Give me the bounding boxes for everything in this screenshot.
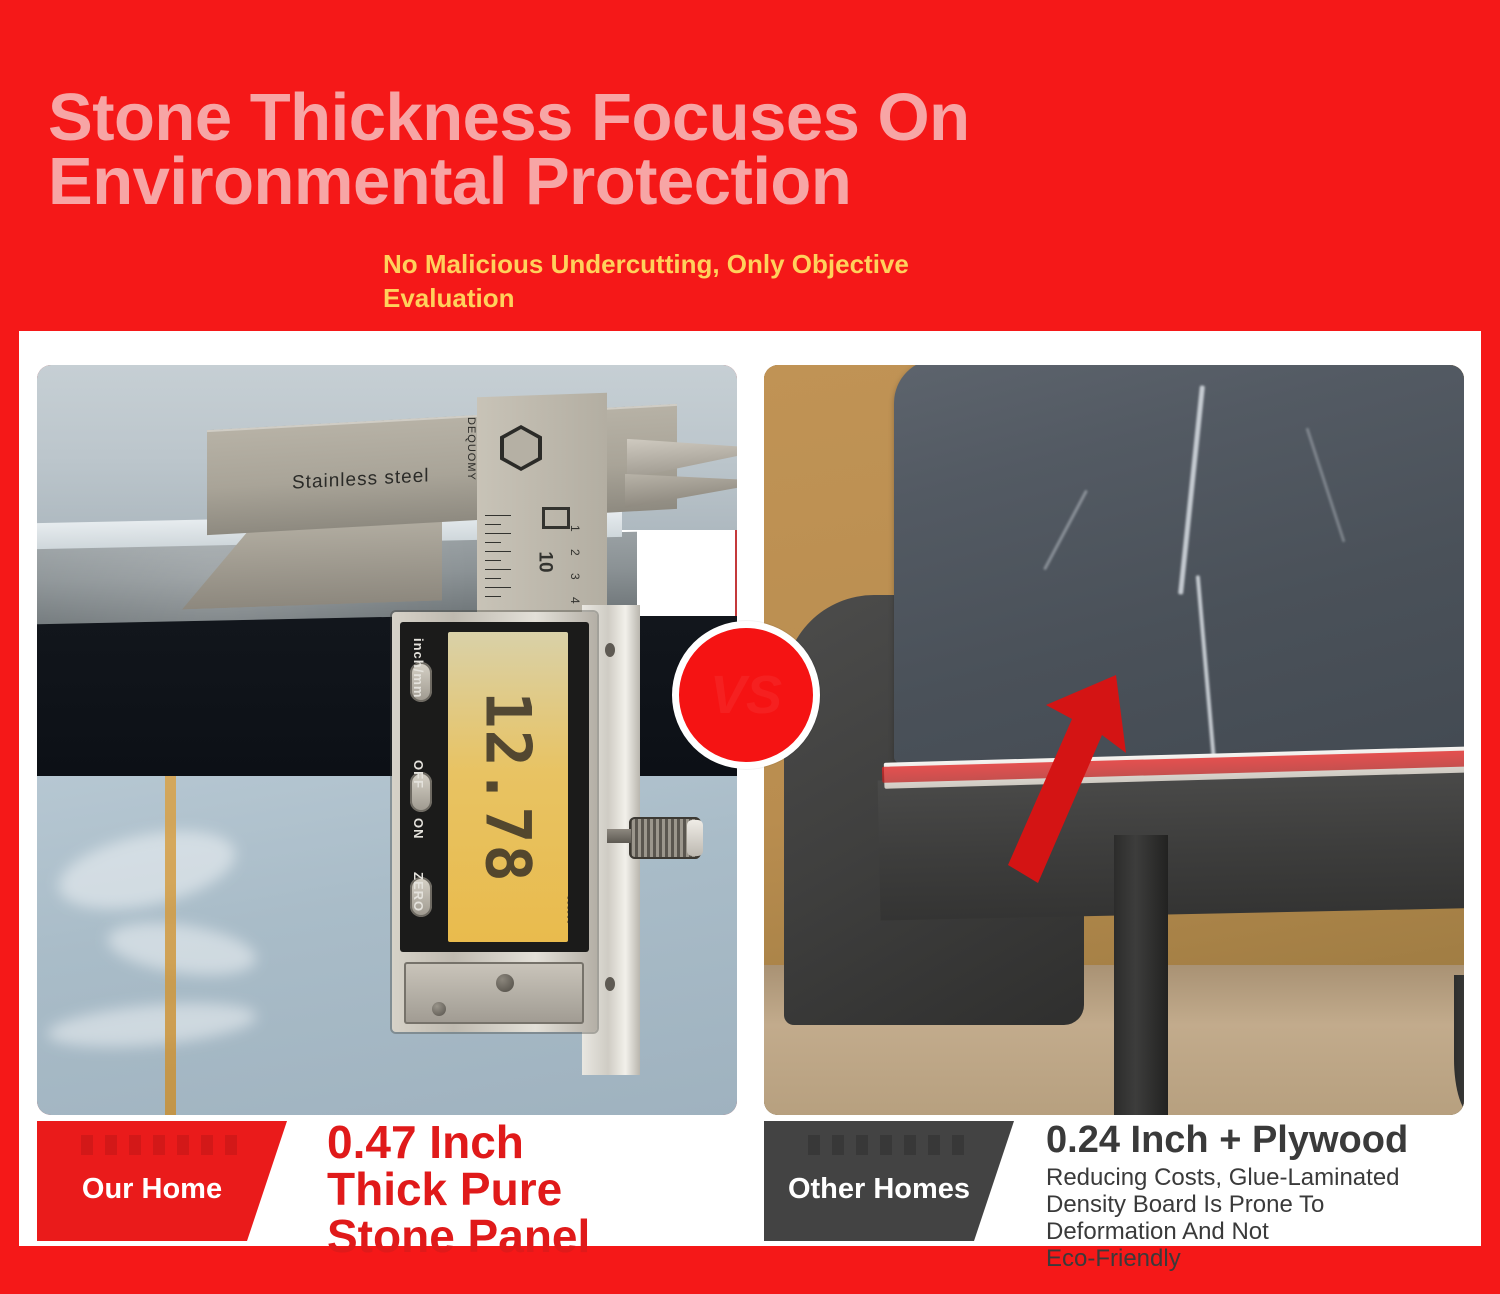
caliper-brand-hexagon-icon bbox=[500, 425, 546, 477]
photo-other-homes-table bbox=[764, 365, 1464, 1115]
caliper-beam-hole-2 bbox=[605, 977, 615, 991]
vs-badge-label: VS bbox=[710, 664, 782, 726]
page-title: Stone Thickness Focuses On Environmental… bbox=[48, 86, 1228, 213]
comparison-card-right bbox=[764, 365, 1464, 1115]
caliper-screw-1 bbox=[496, 974, 514, 992]
content-panel: 10 1 2 3 4 Stainless steel DEQUOMY inch/… bbox=[19, 331, 1481, 1246]
photo-our-home-caliper: 10 1 2 3 4 Stainless steel DEQUOMY inch/… bbox=[37, 365, 737, 1115]
badge-our-home: Our Home bbox=[37, 1121, 287, 1241]
thumb-wheel-cap bbox=[687, 820, 703, 856]
caliper-scale-minor-labels: 1 2 3 4 bbox=[568, 525, 582, 611]
caliper-measurement-unit: mm bbox=[562, 896, 568, 924]
caliper-label-inch-mm: inch/mm bbox=[411, 638, 426, 698]
caliper-measurement-value: 12.78 bbox=[472, 691, 545, 883]
caption-right-title: 0.24 Inch + Plywood bbox=[1046, 1121, 1466, 1159]
caption-left-title: 0.47 Inch Thick Pure Stone Panel bbox=[327, 1119, 747, 1260]
badge-other-homes: Other Homes bbox=[764, 1121, 1014, 1241]
comparison-card-left: 10 1 2 3 4 Stainless steel DEQUOMY inch/… bbox=[37, 365, 737, 1115]
caliper-beam-hole-1 bbox=[605, 643, 615, 657]
vs-badge: VS bbox=[672, 621, 820, 769]
caliper-bottom-plate bbox=[404, 962, 584, 1024]
caliper-scale-ten-label: 10 bbox=[534, 551, 556, 572]
stone-table-top bbox=[894, 365, 1464, 763]
caliper-lcd-screen: 12.78 mm bbox=[448, 632, 568, 942]
caliper-display-housing: inch/mm OFF ON ZERO 12.78 mm bbox=[392, 612, 597, 1032]
badge-ghost-artifact bbox=[796, 1135, 966, 1155]
caliper-label-on: ON bbox=[411, 818, 426, 840]
floor-seam-stripe bbox=[165, 776, 176, 1115]
caliper-label-off: OFF bbox=[411, 760, 426, 789]
caption-left: Our Home 0.47 Inch Thick Pure Stone Pane… bbox=[37, 1121, 737, 1246]
caption-right: Other Homes 0.24 Inch + Plywood Reducing… bbox=[764, 1121, 1464, 1246]
table-apron-shadow bbox=[878, 765, 1464, 920]
caliper-display-bezel: inch/mm OFF ON ZERO 12.78 mm bbox=[400, 622, 589, 952]
caliper-screw-2 bbox=[432, 1002, 446, 1016]
header-banner: Stone Thickness Focuses On Environmental… bbox=[0, 0, 1500, 330]
badge-our-home-label: Our Home bbox=[82, 1173, 222, 1206]
red-arrow-icon bbox=[1004, 665, 1134, 895]
caliper-label-zero: ZERO bbox=[411, 872, 426, 912]
caliper-brand-text: DEQUOMY bbox=[465, 417, 477, 481]
badge-other-homes-label: Other Homes bbox=[788, 1173, 970, 1206]
page-subtitle: No Malicious Undercutting, Only Objectiv… bbox=[383, 248, 983, 316]
caliper-scale-ticks bbox=[485, 515, 527, 625]
thumb-wheel-stem bbox=[607, 829, 631, 843]
caption-right-description: Reducing Costs, Glue-Laminated Density B… bbox=[1046, 1165, 1466, 1273]
caliper-zero-marker bbox=[542, 507, 570, 529]
caliper-thumb-wheel bbox=[629, 817, 701, 859]
badge-ghost-artifact bbox=[69, 1135, 239, 1155]
